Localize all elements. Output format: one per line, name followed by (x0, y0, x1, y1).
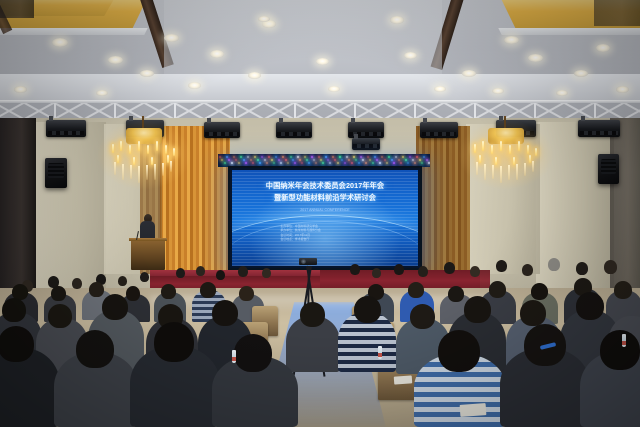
attendee-head (394, 264, 404, 275)
led-string-dot (250, 159, 252, 161)
led-string-dot (322, 162, 324, 164)
downlight (492, 88, 504, 94)
chandelier-candle (491, 145, 493, 154)
led-string-dot (318, 156, 320, 158)
attendee-head (140, 272, 149, 282)
led-string-dot (348, 159, 350, 161)
led-string-dot (297, 156, 299, 158)
led-string-dot (313, 159, 315, 161)
downlight (258, 16, 270, 22)
led-string-dot (407, 162, 409, 164)
led-string-dot (381, 156, 383, 158)
led-string-dot (226, 156, 228, 158)
chandelier-candle (165, 145, 167, 154)
led-string-dot (285, 159, 287, 161)
led-string-dot (238, 162, 240, 164)
attendee-head (438, 330, 480, 372)
led-string-dot (421, 162, 423, 164)
conference-hall-photo: 中国纳米年会技术委员会2017年年会 暨新型功能材料前沿学术研讨会 2017 A… (0, 0, 640, 427)
attendee-head (444, 262, 455, 274)
attendee-head (76, 330, 114, 368)
attendee-head (604, 260, 617, 274)
led-string-dot (351, 162, 353, 164)
led-screen[interactable]: 中国纳米年会技术委员会2017年年会 暨新型功能材料前沿学术研讨会 2017 A… (228, 166, 422, 270)
led-string-dot (259, 162, 261, 164)
attendee-head (239, 286, 254, 301)
led-string-dot (275, 156, 277, 158)
wall-speaker-right (598, 154, 619, 184)
led-string-dot (346, 156, 348, 158)
attendee-head (548, 258, 560, 271)
led-string-dot (419, 159, 421, 161)
led-string-dot (339, 156, 341, 158)
attendee-head (89, 282, 104, 297)
led-string-dot (416, 156, 418, 158)
led-string-dot (235, 159, 237, 161)
chandelier-crystal (524, 163, 526, 176)
ceiling-cove-lip-right (498, 28, 640, 35)
led-string-dot (358, 162, 360, 164)
attendee-head (2, 298, 26, 322)
chandelier-candle (513, 157, 515, 165)
led-string-dot (353, 156, 355, 158)
wall-column-left (34, 122, 106, 294)
led-string-dot (376, 159, 378, 161)
led-string-dot (334, 159, 336, 161)
chandelier-crystal (122, 164, 124, 180)
attendee-head (448, 286, 464, 302)
led-string-dot (329, 162, 331, 164)
led-string-dot (301, 162, 303, 164)
led-string-dot (374, 156, 376, 158)
attendee-head (176, 268, 185, 278)
led-string-dot (278, 159, 280, 161)
led-string-dot (268, 156, 270, 158)
attendee-head (216, 270, 225, 280)
led-string-dot (344, 162, 346, 164)
stage-light-fixture (276, 122, 312, 138)
led-string-dot (233, 156, 235, 158)
attendee-head (154, 322, 194, 362)
led-string-dot (402, 156, 404, 158)
chandelier-candle (482, 141, 484, 151)
led-string-dot (337, 162, 339, 164)
downlight (556, 90, 568, 96)
chandelier-candle (500, 141, 502, 151)
downlight (316, 58, 329, 65)
led-string-dot (428, 162, 430, 164)
downlight (596, 44, 610, 52)
attendee-head (576, 292, 604, 320)
led-string-dot (292, 159, 294, 161)
led-string-dot (308, 162, 310, 164)
screen-scanlines (232, 170, 418, 266)
stage-light-fixture (204, 122, 240, 138)
attendee-head (464, 296, 491, 323)
led-string-dot (320, 159, 322, 161)
led-string-dot (273, 162, 275, 164)
led-string-dot (355, 159, 357, 161)
led-string-dot (240, 156, 242, 158)
handout-paper (394, 375, 413, 384)
led-string-dot (221, 159, 223, 161)
attendee-head (520, 300, 546, 326)
water-bottle (232, 350, 236, 363)
stage-light-fixture (578, 120, 620, 137)
downlight (108, 56, 123, 64)
attendee-head (410, 304, 435, 329)
led-string-dot (412, 159, 414, 161)
led-string-dot (252, 162, 254, 164)
attendee-head (470, 266, 480, 277)
chandelier-crystal (138, 166, 140, 183)
led-string-dot (266, 162, 268, 164)
led-string-dot (224, 162, 226, 164)
led-string-dot (367, 156, 369, 158)
chandelier-right (470, 128, 542, 186)
attendee-head (418, 266, 428, 277)
chandelier-candle (151, 157, 153, 165)
chandelier-candle (133, 157, 135, 165)
stage-light-fixture (352, 138, 380, 150)
chandelier-candle (529, 155, 531, 163)
attendee-head (614, 281, 632, 299)
led-string-dot (287, 162, 289, 164)
chandelier-crystal (492, 165, 494, 179)
ceiling-dark-right (594, 0, 640, 26)
chandelier-crystal (170, 161, 172, 172)
led-string-dot (290, 156, 292, 158)
downlight (528, 54, 543, 62)
ceiling-cove-lip-left (0, 28, 148, 35)
water-bottle (378, 346, 382, 359)
downlight (140, 70, 154, 77)
downlight (434, 86, 446, 92)
attendee-head (212, 300, 238, 326)
led-string-dot (219, 156, 221, 158)
led-string-dot (325, 156, 327, 158)
led-string-dot (306, 159, 308, 161)
chandelier-candle (518, 141, 520, 151)
chandelier-crystal (146, 165, 148, 180)
chandelier-crystal (162, 163, 164, 176)
led-string-dot (414, 162, 416, 164)
led-string-dot (332, 156, 334, 158)
led-string-dot (261, 156, 263, 158)
water-bottle (622, 334, 626, 347)
attendee-head (489, 281, 506, 298)
chandelier-candle (527, 145, 529, 154)
attendee-head (196, 266, 205, 276)
led-string-dot (391, 159, 393, 161)
led-string-dot (304, 156, 306, 158)
led-string-dot (245, 162, 247, 164)
stage-light-fixture (420, 122, 458, 138)
led-string-dot (362, 159, 364, 161)
attendee-head (126, 286, 140, 301)
led-string-dot (409, 156, 411, 158)
chandelier-crystal (516, 164, 518, 180)
chandelier-crystal (532, 161, 534, 172)
led-string-dot (369, 159, 371, 161)
attendee-head (600, 330, 640, 370)
chandelier-candle (117, 155, 119, 163)
chandelier-candle (138, 141, 140, 151)
attendee-head (118, 276, 127, 286)
attendee-head (531, 283, 548, 300)
stage-light-fixture (46, 120, 86, 137)
led-string-dot (426, 159, 428, 161)
downlight (96, 90, 108, 96)
led-string-dot (231, 162, 233, 164)
led-string-dot (243, 159, 245, 161)
attendee-head (161, 284, 176, 299)
downlight (210, 50, 224, 58)
led-string-dot (423, 156, 425, 158)
chandelier-candle (112, 144, 114, 153)
attendee-head (48, 304, 72, 328)
downlight (164, 34, 179, 42)
chandelier-candle (173, 148, 175, 156)
handout-paper (460, 403, 487, 417)
led-string-dot (280, 162, 282, 164)
downlight (574, 70, 588, 77)
chandelier-left (108, 128, 180, 186)
led-string-dot (365, 162, 367, 164)
led-string-dot (257, 159, 259, 161)
downlight (616, 86, 629, 93)
attendee-head (496, 260, 507, 272)
chandelier-crystal (476, 162, 478, 175)
attendee-head (350, 264, 360, 275)
ceiling-dark-left (0, 0, 34, 18)
led-string-dot (254, 156, 256, 158)
led-string-dot (386, 162, 388, 164)
led-string-dot (379, 162, 381, 164)
led-string-dot (228, 159, 230, 161)
led-string-dot (388, 156, 390, 158)
chandelier-crystal (114, 162, 116, 175)
led-string-dot (282, 156, 284, 158)
led-string-dot (315, 162, 317, 164)
attendee-head (300, 302, 325, 327)
downlight (52, 38, 68, 47)
chandelier-candle (495, 157, 497, 165)
downlight (504, 36, 519, 44)
downlight (14, 86, 27, 93)
downlight (188, 82, 201, 89)
chandelier-crystal (154, 164, 156, 180)
led-string-dot (405, 159, 407, 161)
led-string-dot (395, 156, 397, 158)
chandelier-candle (509, 145, 511, 154)
downlight (462, 70, 476, 77)
chandelier-candle (156, 141, 158, 151)
led-string-dot (247, 156, 249, 158)
attendee-head (72, 278, 82, 289)
led-string-dot (393, 162, 395, 164)
led-string-dot (398, 159, 400, 161)
attendee-head (102, 294, 128, 320)
downlight (248, 72, 261, 79)
attendee-head (262, 268, 271, 278)
chandelier-crystal (500, 166, 502, 183)
led-string-dot (400, 162, 402, 164)
chandelier-candle (167, 155, 169, 163)
downlight (390, 16, 404, 24)
ceiling-plane-center (164, 0, 442, 74)
chandelier-crystal (130, 165, 132, 179)
downlight (328, 86, 340, 92)
led-string-dot (384, 159, 386, 161)
led-string-dot (264, 159, 266, 161)
attendee-head (372, 268, 381, 278)
chandelier-candle (479, 155, 481, 163)
attendee-head (234, 334, 272, 372)
attendee-head (0, 326, 34, 362)
chandelier-candle (129, 145, 131, 154)
led-string-dot (341, 159, 343, 161)
attendee-head (408, 282, 424, 298)
attendee-head (354, 296, 381, 323)
ceiling-soffit (0, 74, 640, 100)
wall-recess-left (0, 118, 36, 290)
led-string-dot (311, 156, 313, 158)
chandelier-candle (120, 141, 122, 151)
downlight (404, 52, 417, 59)
led-screen-surface: 中国纳米年会技术委员会2017年年会 暨新型功能材料前沿学术研讨会 2017 A… (232, 170, 418, 266)
led-string-dot (327, 159, 329, 161)
led-string-dot (299, 159, 301, 161)
video-camera (299, 258, 317, 265)
lectern (131, 240, 165, 270)
attendee-head (200, 282, 216, 298)
attendee-head (522, 264, 533, 276)
chandelier-candle (147, 145, 149, 154)
attendee-head (576, 262, 588, 275)
led-string-dot (271, 159, 273, 161)
chandelier-candle (535, 148, 537, 156)
chandelier-candle (474, 144, 476, 153)
chandelier-crystal (508, 165, 510, 180)
attendee-head (51, 286, 66, 301)
wall-speaker-left (45, 158, 67, 188)
attendee-head (238, 266, 248, 277)
led-string-dot (294, 162, 296, 164)
lectern-top (129, 238, 167, 241)
led-string-dot (360, 156, 362, 158)
chandelier-crystal (484, 164, 486, 180)
led-string-dot (372, 162, 374, 164)
